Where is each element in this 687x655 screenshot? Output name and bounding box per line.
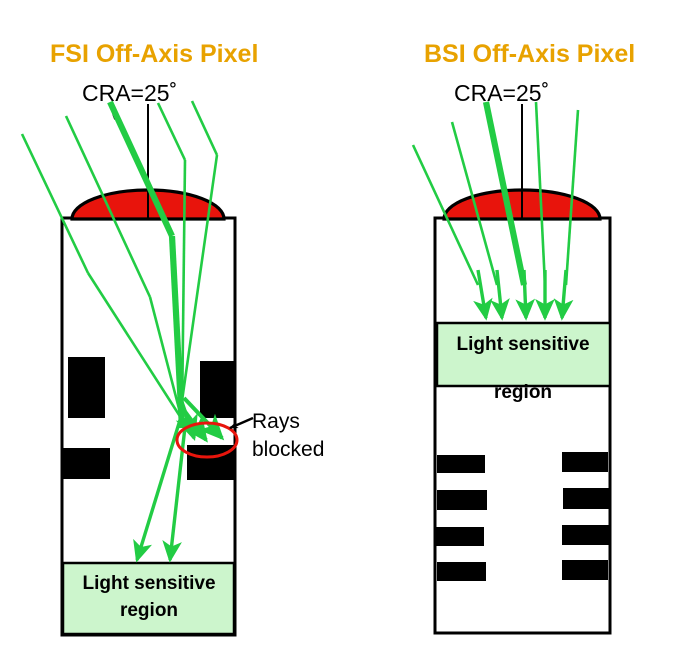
metal-block-bsi-3 <box>563 488 610 509</box>
metal-block-bsi-0 <box>437 455 485 473</box>
metal-block-fsi-0 <box>68 357 105 418</box>
metal-block-bsi-4 <box>436 527 484 546</box>
light-sensitive-label-line1-fsi: Light sensitive <box>82 573 215 594</box>
absorbed-ray-arrow-bsi-2 <box>524 270 526 318</box>
light-sensitive-label-line2-fsi: region <box>120 600 178 621</box>
panel-title-bsi: BSI Off-Axis Pixel <box>424 40 635 68</box>
pixel-cross-section-diagram: FSI Off-Axis PixelCRA=25˚Light sensitive… <box>0 0 687 655</box>
metal-block-fsi-2 <box>62 448 110 479</box>
rays-blocked-label-line2: blocked <box>252 438 324 461</box>
metal-block-bsi-7 <box>562 560 608 580</box>
cra-label-fsi: CRA=25˚ <box>82 80 177 106</box>
rays-blocked-label-line1: Rays <box>252 410 300 433</box>
panel-title-fsi: FSI Off-Axis Pixel <box>50 40 258 68</box>
metal-block-bsi-5 <box>562 525 609 545</box>
metal-block-bsi-2 <box>437 490 487 510</box>
metal-block-bsi-6 <box>437 562 486 581</box>
metal-block-fsi-1 <box>200 361 235 418</box>
diagram-root: FSI Off-Axis PixelCRA=25˚Light sensitive… <box>0 0 687 655</box>
light-sensitive-label-line2-bsi: region <box>494 382 552 403</box>
metal-block-bsi-1 <box>562 452 608 472</box>
light-sensitive-label-line1-bsi: Light sensitive <box>456 334 589 355</box>
metal-block-fsi-3 <box>187 445 235 480</box>
